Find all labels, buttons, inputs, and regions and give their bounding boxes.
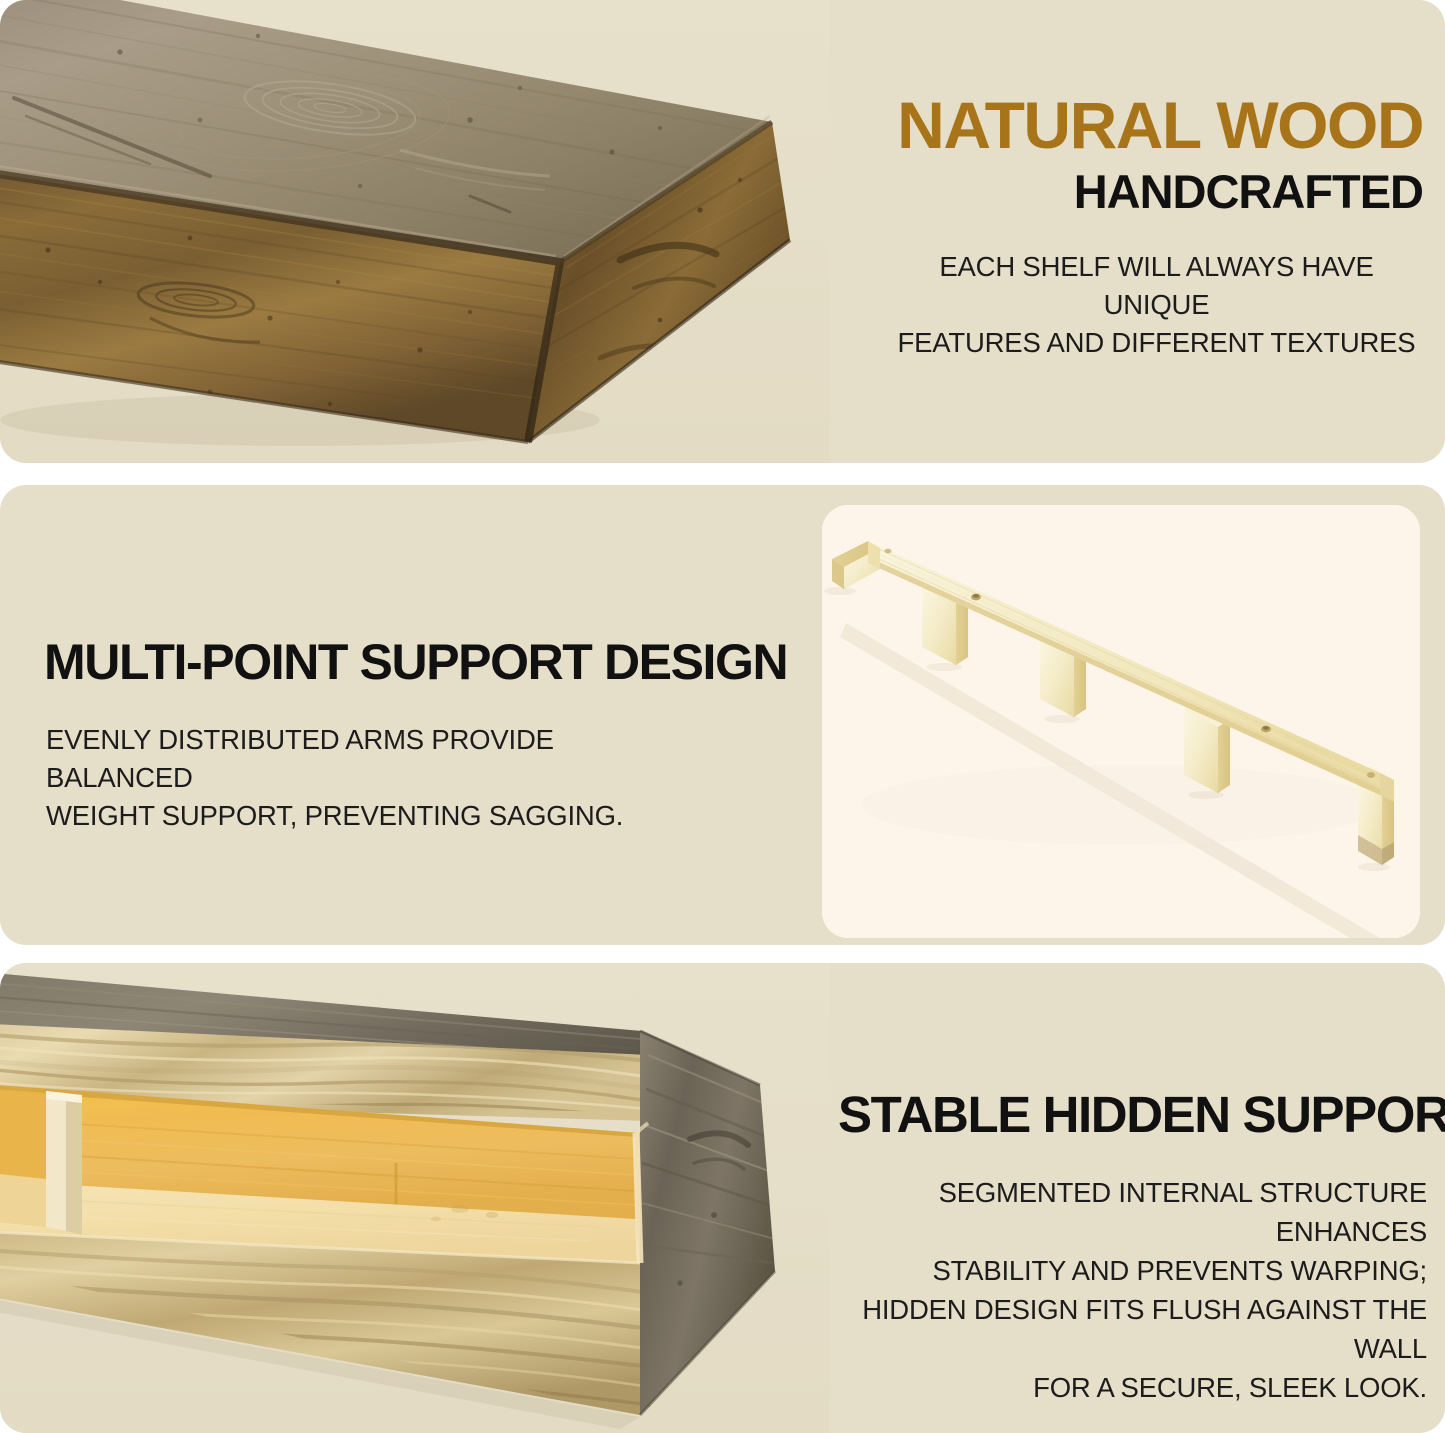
panel3-body-line-2: STABILITY AND PREVENTS WARPING; xyxy=(838,1251,1427,1290)
panel3-body-line-4: FOR A SECURE, SLEEK LOOK. xyxy=(838,1368,1427,1407)
multipoint-text-block: MULTI-POINT SUPPORT DESIGN EVENLY DISTRI… xyxy=(44,485,804,945)
panel3-body: SEGMENTED INTERNAL STRUCTURE ENHANCES ST… xyxy=(838,1173,1427,1407)
panel-natural-wood: NATURAL WOOD HANDCRAFTED EACH SHELF WILL… xyxy=(0,0,1445,463)
panel2-body-line-2: WEIGHT SUPPORT, PREVENTING SAGGING. xyxy=(46,797,706,835)
panel1-title: NATURAL WOOD xyxy=(830,92,1423,158)
panel2-body: EVENLY DISTRIBUTED ARMS PROVIDE BALANCED… xyxy=(46,721,706,835)
panel1-subtitle: HANDCRAFTED xyxy=(830,168,1423,215)
panel-multi-point-support: MULTI-POINT SUPPORT DESIGN EVENLY DISTRI… xyxy=(0,485,1445,945)
hidden-support-photo xyxy=(0,963,830,1433)
panel-stable-hidden-support: STABLE HIDDEN SUPPORT SEGMENTED INTERNAL… xyxy=(0,963,1445,1433)
product-feature-infographic: NATURAL WOOD HANDCRAFTED EACH SHELF WILL… xyxy=(0,0,1445,1433)
panel1-body-line-2: FEATURES AND DIFFERENT TEXTURES xyxy=(890,324,1423,362)
natural-wood-text-block: NATURAL WOOD HANDCRAFTED EACH SHELF WILL… xyxy=(830,0,1445,463)
panel1-body-line-1: EACH SHELF WILL ALWAYS HAVE UNIQUE xyxy=(890,248,1423,324)
panel3-body-line-3: HIDDEN DESIGN FITS FLUSH AGAINST THE WAL… xyxy=(838,1290,1427,1368)
panel2-body-line-1: EVENLY DISTRIBUTED ARMS PROVIDE BALANCED xyxy=(46,721,706,797)
panel2-title: MULTI-POINT SUPPORT DESIGN xyxy=(44,637,787,687)
internal-divider xyxy=(46,1091,82,1235)
panel1-body: EACH SHELF WILL ALWAYS HAVE UNIQUE FEATU… xyxy=(890,248,1423,362)
panel3-body-line-1: SEGMENTED INTERNAL STRUCTURE ENHANCES xyxy=(838,1173,1427,1251)
bracket-photo-card xyxy=(822,505,1420,938)
hidden-support-text-block: STABLE HIDDEN SUPPORT SEGMENTED INTERNAL… xyxy=(830,963,1445,1433)
natural-wood-photo xyxy=(0,0,830,463)
panel3-title: STABLE HIDDEN SUPPORT xyxy=(838,1089,1427,1140)
